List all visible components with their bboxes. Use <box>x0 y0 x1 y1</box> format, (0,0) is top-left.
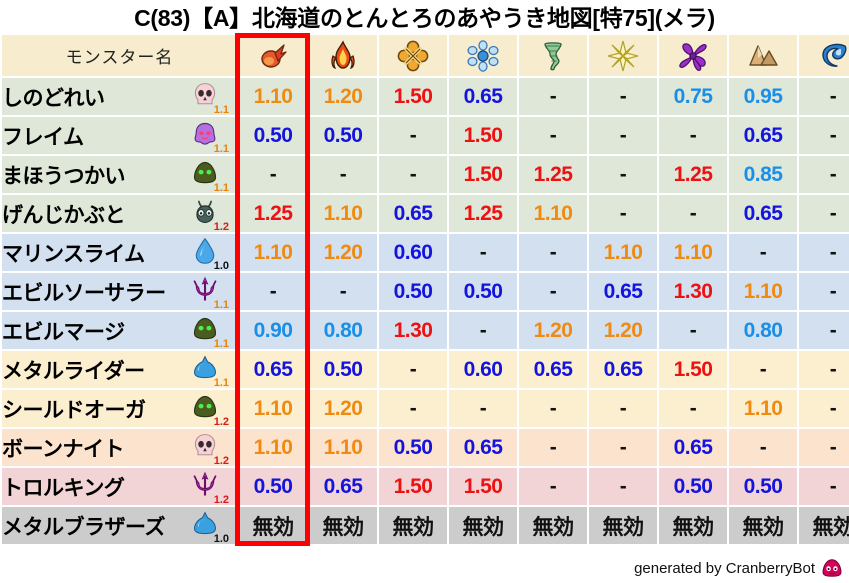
monster-name-label: トロルキング <box>2 472 124 502</box>
resistance-cell: 0.65 <box>449 78 517 115</box>
monster-multiplier-label: 1.0 <box>214 261 229 272</box>
monster-multiplier-label: 1.1 <box>214 144 229 155</box>
resistance-cell: - <box>799 429 849 466</box>
column-header-wave[interactable] <box>799 35 849 76</box>
resistance-cell: 1.10 <box>309 195 377 232</box>
page-title: C(83)【A】北海道のとんとろのあやうき地図[特75](メラ) <box>0 0 849 32</box>
resistance-cell: - <box>519 429 587 466</box>
resistance-cell: - <box>729 234 797 271</box>
column-header-tornado[interactable] <box>519 35 587 76</box>
resistance-cell: - <box>729 351 797 388</box>
snowflake-icon <box>466 40 500 72</box>
resistance-cell: 無効 <box>239 507 307 544</box>
resistance-cell: - <box>799 117 849 154</box>
monster-name-label: マリンスライム <box>2 238 145 268</box>
resistance-cell: 1.20 <box>309 78 377 115</box>
monster-multiplier-label: 1.2 <box>214 417 229 428</box>
monster-multiplier-label: 1.2 <box>214 222 229 233</box>
monster-name-label: エビルマージ <box>2 316 125 346</box>
resistance-cell: - <box>729 429 797 466</box>
resistance-cell: - <box>589 117 657 154</box>
resistance-cell: - <box>799 312 849 349</box>
resistance-cell: - <box>449 312 517 349</box>
fireball-icon <box>256 40 290 72</box>
resistance-cell: - <box>589 468 657 505</box>
resistance-cell: - <box>309 156 377 193</box>
resistance-cell: - <box>519 78 587 115</box>
resistance-cell: 1.10 <box>659 234 727 271</box>
resistance-cell: 0.85 <box>729 156 797 193</box>
resistance-cell: 1.30 <box>659 273 727 310</box>
resistance-cell: - <box>239 273 307 310</box>
monster-name-cell[interactable]: しのどれい1.1 <box>2 78 237 115</box>
resistance-cell: - <box>799 390 849 427</box>
resistance-cell: - <box>379 156 447 193</box>
resistance-cell: 0.65 <box>379 195 447 232</box>
column-header-monster-name: モンスター名 <box>2 35 237 76</box>
resistance-cell: 1.50 <box>659 351 727 388</box>
resistance-cell: - <box>799 234 849 271</box>
monster-multiplier-label: 1.1 <box>214 339 229 350</box>
monster-name-cell[interactable]: エビルマージ1.1 <box>2 312 237 349</box>
resistance-cell: 0.65 <box>659 429 727 466</box>
resistance-cell: 0.90 <box>239 312 307 349</box>
resistance-cell: - <box>659 195 727 232</box>
resistance-cell: 0.65 <box>449 429 517 466</box>
resistance-cell: 0.50 <box>449 273 517 310</box>
resistance-cell: 1.10 <box>519 195 587 232</box>
resistance-cell: 1.50 <box>449 156 517 193</box>
column-header-explosion[interactable] <box>379 35 447 76</box>
resistance-cell: 0.65 <box>239 351 307 388</box>
monster-name-cell[interactable]: マリンスライム1.0 <box>2 234 237 271</box>
resistance-cell: - <box>379 117 447 154</box>
resistance-cell: 無効 <box>589 507 657 544</box>
monster-name-label: シールドオーガ <box>2 394 146 424</box>
monster-name-label: ボーンナイト <box>2 433 124 463</box>
resistance-cell: 0.60 <box>449 351 517 388</box>
resistance-cell: 0.50 <box>239 117 307 154</box>
monster-multiplier-label: 1.2 <box>214 495 229 506</box>
resistance-cell: - <box>799 351 849 388</box>
resistance-cell: 1.25 <box>519 156 587 193</box>
monster-multiplier-label: 1.0 <box>214 534 229 545</box>
table-row: ボーンナイト1.21.101.100.500.65--0.65-- <box>2 429 849 466</box>
resistance-cell: 無効 <box>799 507 849 544</box>
resistance-cell: - <box>799 273 849 310</box>
resistance-cell: 1.10 <box>239 390 307 427</box>
resistance-cell: - <box>799 156 849 193</box>
resistance-cell: - <box>589 390 657 427</box>
resistance-cell: - <box>659 312 727 349</box>
resistance-cell: - <box>519 273 587 310</box>
resistance-cell: - <box>799 78 849 115</box>
table-row: エビルマージ1.10.900.801.30-1.201.20-0.80- <box>2 312 849 349</box>
resistance-cell: - <box>589 156 657 193</box>
resistance-cell: 0.50 <box>309 117 377 154</box>
column-header-flame[interactable] <box>309 35 377 76</box>
explosion-icon <box>396 40 430 72</box>
resistance-cell: 無効 <box>659 507 727 544</box>
monster-name-cell[interactable]: シールドオーガ1.2 <box>2 390 237 427</box>
cranberry-slime-icon <box>821 557 843 579</box>
resistance-cell: 無効 <box>309 507 377 544</box>
resistance-cell: 1.25 <box>239 195 307 232</box>
resistance-cell: 無効 <box>729 507 797 544</box>
column-header-fireball[interactable] <box>239 35 307 76</box>
resistance-cell: 1.50 <box>379 78 447 115</box>
resistance-cell: 1.50 <box>449 117 517 154</box>
table-row: しのどれい1.11.101.201.500.65--0.750.95- <box>2 78 849 115</box>
resistance-cell: - <box>659 390 727 427</box>
column-header-snowflake[interactable] <box>449 35 517 76</box>
resistance-cell: 1.20 <box>309 390 377 427</box>
resistance-table: モンスター名 しのどれい1.11.101.201.500.65--0.750.9… <box>0 33 849 546</box>
resistance-cell: - <box>589 195 657 232</box>
resistance-cell: 0.50 <box>379 273 447 310</box>
resistance-cell: - <box>799 195 849 232</box>
table-body: しのどれい1.11.101.201.500.65--0.750.95-フレイム1… <box>2 78 849 544</box>
table-header-row: モンスター名 <box>2 35 849 76</box>
monster-name-cell[interactable]: げんじかぶと1.2 <box>2 195 237 232</box>
monster-multiplier-label: 1.1 <box>214 300 229 311</box>
resistance-cell: 0.50 <box>659 468 727 505</box>
resistance-cell: 0.50 <box>239 468 307 505</box>
resistance-cell: 1.30 <box>379 312 447 349</box>
mountain-icon <box>746 40 780 72</box>
table-row: まほうつかい1.1---1.501.25-1.250.85- <box>2 156 849 193</box>
table-row: フレイム1.10.500.50-1.50---0.65- <box>2 117 849 154</box>
resistance-cell: 1.50 <box>379 468 447 505</box>
flame-icon <box>326 40 360 72</box>
monster-name-cell[interactable]: トロルキング1.2 <box>2 468 237 505</box>
resistance-cell: 1.20 <box>589 312 657 349</box>
starburst-icon <box>606 40 640 72</box>
monster-multiplier-label: 1.1 <box>214 378 229 389</box>
resistance-cell: 0.60 <box>379 234 447 271</box>
monster-name-label: メタルブラザーズ <box>2 511 165 541</box>
resistance-cell: 0.95 <box>729 78 797 115</box>
tornado-icon <box>536 40 570 72</box>
monster-name-label: メタルライダー <box>2 355 145 385</box>
resistance-cell: - <box>519 390 587 427</box>
resistance-cell: - <box>589 78 657 115</box>
monster-name-label: エビルソーサラー <box>2 277 166 307</box>
table-row: げんじかぶと1.21.251.100.651.251.10--0.65- <box>2 195 849 232</box>
monster-name-cell[interactable]: メタルライダー1.1 <box>2 351 237 388</box>
resistance-cell: - <box>519 468 587 505</box>
monster-name-label: フレイム <box>2 121 84 151</box>
resistance-cell: 1.10 <box>309 429 377 466</box>
column-header-darkflower[interactable] <box>659 35 727 76</box>
resistance-cell: 無効 <box>449 507 517 544</box>
resistance-cell: 0.80 <box>729 312 797 349</box>
resistance-cell: 1.10 <box>239 78 307 115</box>
resistance-cell: - <box>239 156 307 193</box>
resistance-cell: - <box>309 273 377 310</box>
monster-name-cell[interactable]: フレイム1.1 <box>2 117 237 154</box>
resistance-cell: - <box>379 351 447 388</box>
resistance-cell: 0.65 <box>309 468 377 505</box>
monster-multiplier-label: 1.1 <box>214 183 229 194</box>
resistance-cell: 0.65 <box>589 351 657 388</box>
resistance-cell: 1.10 <box>239 234 307 271</box>
monster-name-cell[interactable]: メタルブラザーズ1.0 <box>2 507 237 544</box>
resistance-cell: - <box>449 390 517 427</box>
resistance-cell: 0.65 <box>729 195 797 232</box>
resistance-table-page: C(83)【A】北海道のとんとろのあやうき地図[特75](メラ) モンスター名 … <box>0 0 849 583</box>
monster-name-label: げんじかぶと <box>2 199 125 229</box>
resistance-cell: 1.10 <box>589 234 657 271</box>
resistance-cell: - <box>379 390 447 427</box>
resistance-cell: - <box>589 429 657 466</box>
monster-name-label: まほうつかい <box>2 160 125 190</box>
monster-name-cell[interactable]: まほうつかい1.1 <box>2 156 237 193</box>
resistance-cell: 0.50 <box>729 468 797 505</box>
resistance-cell: 1.25 <box>659 156 727 193</box>
resistance-cell: 1.10 <box>729 390 797 427</box>
resistance-cell: 1.10 <box>239 429 307 466</box>
monster-multiplier-label: 1.2 <box>214 456 229 467</box>
resistance-cell: 0.50 <box>379 429 447 466</box>
resistance-cell: 0.65 <box>729 117 797 154</box>
table-row: メタルブラザーズ1.0無効無効無効無効無効無効無効無効無効 <box>2 507 849 544</box>
resistance-cell: - <box>519 117 587 154</box>
table-row: エビルソーサラー1.1--0.500.50-0.651.301.10- <box>2 273 849 310</box>
column-header-starburst[interactable] <box>589 35 657 76</box>
resistance-cell: - <box>659 117 727 154</box>
table-row: シールドオーガ1.21.101.20-----1.10- <box>2 390 849 427</box>
resistance-cell: 0.80 <box>309 312 377 349</box>
footer-credit: generated by CranberryBot <box>634 557 843 579</box>
resistance-cell: 0.65 <box>589 273 657 310</box>
monster-name-label: しのどれい <box>2 82 105 112</box>
darkflower-icon <box>676 40 710 72</box>
monster-name-cell[interactable]: ボーンナイト1.2 <box>2 429 237 466</box>
resistance-cell: 1.50 <box>449 468 517 505</box>
resistance-cell: 無効 <box>519 507 587 544</box>
resistance-cell: 1.20 <box>309 234 377 271</box>
column-header-mountain[interactable] <box>729 35 797 76</box>
resistance-cell: 1.10 <box>729 273 797 310</box>
resistance-cell: - <box>519 234 587 271</box>
resistance-cell: 1.20 <box>519 312 587 349</box>
monster-multiplier-label: 1.1 <box>214 105 229 116</box>
table-row: メタルライダー1.10.650.50-0.600.650.651.50-- <box>2 351 849 388</box>
monster-name-cell[interactable]: エビルソーサラー1.1 <box>2 273 237 310</box>
resistance-cell: 0.75 <box>659 78 727 115</box>
resistance-cell: 0.65 <box>519 351 587 388</box>
table-row: トロルキング1.20.500.651.501.50--0.500.50- <box>2 468 849 505</box>
table-row: マリンスライム1.01.101.200.60--1.101.10-- <box>2 234 849 271</box>
resistance-cell: 0.50 <box>309 351 377 388</box>
resistance-cell: - <box>799 468 849 505</box>
footer-text: generated by CranberryBot <box>634 560 815 577</box>
resistance-cell: - <box>449 234 517 271</box>
resistance-cell: 無効 <box>379 507 447 544</box>
wave-icon <box>816 40 849 72</box>
resistance-cell: 1.25 <box>449 195 517 232</box>
